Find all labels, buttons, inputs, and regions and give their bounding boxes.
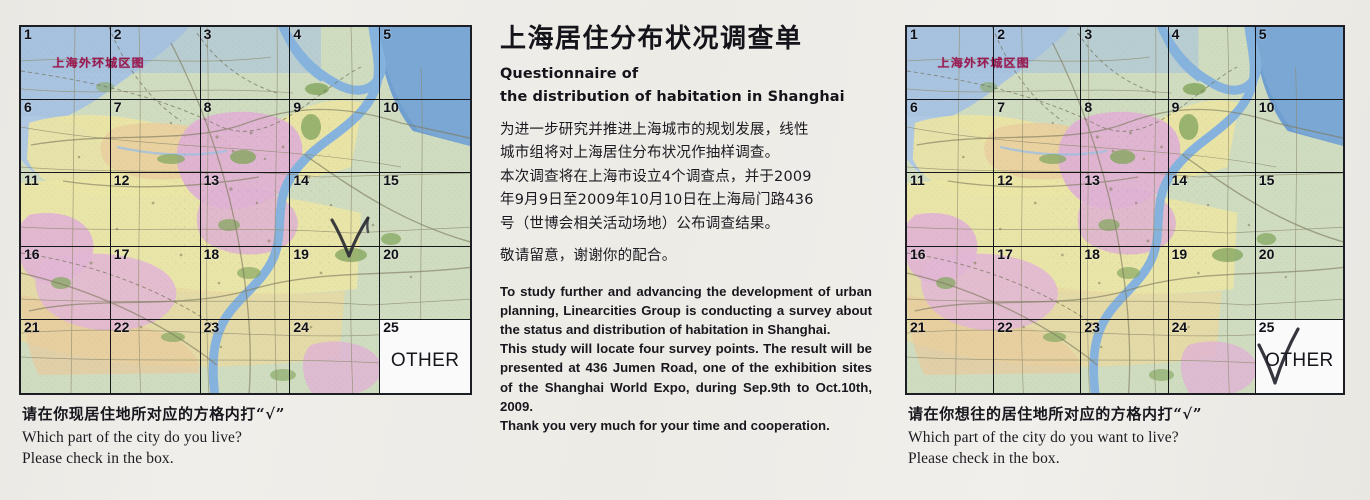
grid-cell-number: 5 <box>1259 27 1267 42</box>
left-caption-en-1: Which part of the city do you live? <box>22 429 285 447</box>
grid-cell-number: 4 <box>1172 27 1180 42</box>
map-grid: 1234567891011121314151617181920212223242… <box>21 27 470 393</box>
grid-cell-number: 9 <box>1172 100 1180 115</box>
grid-cell-number: 18 <box>204 247 220 262</box>
grid-cell-13[interactable]: 13 <box>201 173 291 246</box>
grid-cell-number: 1 <box>910 27 918 42</box>
grid-cell-number: 25 <box>383 320 399 335</box>
grid-cell-number: 24 <box>1172 320 1188 335</box>
questionnaire-sheet: 上海外环城区图 12345678910111213141516171819202… <box>0 0 1370 500</box>
current-residence-map[interactable]: 上海外环城区图 12345678910111213141516171819202… <box>19 25 472 395</box>
grid-cell-18[interactable]: 18 <box>1081 247 1168 320</box>
grid-cell-number: 22 <box>997 320 1013 335</box>
grid-cell-number: 5 <box>383 27 391 42</box>
questionnaire-text-column: 上海居住分布状况调查单 Questionnaire of the distrib… <box>500 18 872 435</box>
grid-cell-number: 14 <box>1172 173 1188 188</box>
right-map-panel: 上海外环城区图 12345678910111213141516171819202… <box>905 25 1345 395</box>
grid-cell-17[interactable]: 17 <box>994 247 1081 320</box>
grid-cell-7[interactable]: 7 <box>111 100 201 173</box>
grid-cell-number: 3 <box>1084 27 1092 42</box>
grid-cell-10[interactable]: 10 <box>1256 100 1343 173</box>
grid-cell-number: 1 <box>24 27 32 42</box>
grid-cell-number: 12 <box>114 173 130 188</box>
grid-cell-7[interactable]: 7 <box>994 100 1081 173</box>
grid-cell-number: 13 <box>1084 173 1100 188</box>
body-cn-p2-l1: 本次调查将在上海市设立4个调查点，并于2009 <box>500 166 872 189</box>
grid-cell-16[interactable]: 16 <box>21 247 111 320</box>
grid-cell-9[interactable]: 9 <box>290 100 380 173</box>
grid-cell-15[interactable]: 15 <box>1256 173 1343 246</box>
grid-cell-number: 17 <box>997 247 1013 262</box>
grid-cell-number: 25 <box>1259 320 1275 335</box>
grid-cell-number: 24 <box>293 320 309 335</box>
grid-cell-number: 8 <box>204 100 212 115</box>
grid-cell-1[interactable]: 1 <box>907 27 994 100</box>
grid-cell-number: 2 <box>114 27 122 42</box>
grid-cell-number: 21 <box>24 320 40 335</box>
body-en-p3: Thank you very much for your time and co… <box>500 416 872 435</box>
grid-cell-24[interactable]: 24 <box>1169 320 1256 393</box>
grid-cell-6[interactable]: 6 <box>21 100 111 173</box>
title-chinese: 上海居住分布状况调查单 <box>500 18 872 55</box>
grid-cell-21[interactable]: 21 <box>21 320 111 393</box>
grid-cell-3[interactable]: 3 <box>201 27 291 100</box>
grid-cell-number: 23 <box>1084 320 1100 335</box>
grid-cell-number: 21 <box>910 320 926 335</box>
grid-cell-8[interactable]: 8 <box>1081 100 1168 173</box>
grid-cell-11[interactable]: 11 <box>21 173 111 246</box>
title-english-line-1: Questionnaire of <box>500 66 872 82</box>
grid-cell-4[interactable]: 4 <box>290 27 380 100</box>
grid-cell-19[interactable]: 19 <box>290 247 380 320</box>
grid-cell-22[interactable]: 22 <box>111 320 201 393</box>
grid-cell-13[interactable]: 13 <box>1081 173 1168 246</box>
grid-cell-19[interactable]: 19 <box>1169 247 1256 320</box>
body-cn-p3-l1: 敬请留意，谢谢你的配合。 <box>500 245 872 268</box>
grid-cell-11[interactable]: 11 <box>907 173 994 246</box>
grid-cell-25[interactable]: 25OTHER <box>1256 320 1343 393</box>
grid-cell-number: 13 <box>204 173 220 188</box>
grid-cell-number: 2 <box>997 27 1005 42</box>
grid-cell-number: 15 <box>383 173 399 188</box>
grid-cell-number: 9 <box>293 100 301 115</box>
body-cn-spacer <box>500 236 872 245</box>
grid-cell-number: 6 <box>24 100 32 115</box>
grid-cell-1[interactable]: 1 <box>21 27 111 100</box>
grid-cell-number: 7 <box>114 100 122 115</box>
grid-cell-number: 20 <box>383 247 399 262</box>
grid-cell-number: 10 <box>383 100 399 115</box>
grid-cell-10[interactable]: 10 <box>380 100 470 173</box>
left-map-panel: 上海外环城区图 12345678910111213141516171819202… <box>19 25 472 395</box>
grid-cell-16[interactable]: 16 <box>907 247 994 320</box>
grid-cell-23[interactable]: 23 <box>201 320 291 393</box>
grid-cell-number: 17 <box>114 247 130 262</box>
grid-cell-22[interactable]: 22 <box>994 320 1081 393</box>
grid-cell-20[interactable]: 20 <box>380 247 470 320</box>
grid-cell-2[interactable]: 2 <box>994 27 1081 100</box>
left-caption: 请在你现居住地所对应的方格内打“√” Which part of the cit… <box>22 403 285 471</box>
grid-cell-number: 22 <box>114 320 130 335</box>
grid-cell-number: 14 <box>293 173 309 188</box>
title-english-line-2: the distribution of habitation in Shangh… <box>500 89 872 105</box>
grid-cell-number: 20 <box>1259 247 1275 262</box>
grid-cell-5[interactable]: 5 <box>380 27 470 100</box>
body-cn-p2-l2: 年9月9日至2009年10月10日在上海局门路436 <box>500 189 872 212</box>
grid-cell-number: 16 <box>24 247 40 262</box>
grid-cell-17[interactable]: 17 <box>111 247 201 320</box>
grid-cell-20[interactable]: 20 <box>1256 247 1343 320</box>
left-caption-en-2: Please check in the box. <box>22 450 285 468</box>
right-caption: 请在你想往的居住地所对应的方格内打“√” Which part of the c… <box>908 403 1202 471</box>
grid-cell-number: 15 <box>1259 173 1275 188</box>
grid-cell-number: 8 <box>1084 100 1092 115</box>
body-cn-p1-l1: 为进一步研究并推进上海城市的规划发展，线性 <box>500 119 872 142</box>
map-grid-right: 1234567891011121314151617181920212223242… <box>907 27 1343 393</box>
grid-cell-23[interactable]: 23 <box>1081 320 1168 393</box>
grid-cell-15[interactable]: 15 <box>380 173 470 246</box>
other-option-label: OTHER <box>391 350 460 372</box>
grid-cell-number: 23 <box>204 320 220 335</box>
grid-cell-2[interactable]: 2 <box>111 27 201 100</box>
grid-cell-number: 18 <box>1084 247 1100 262</box>
body-cn-p1-l2: 城市组将对上海居住分布状况作抽样调查。 <box>500 142 872 165</box>
grid-cell-number: 19 <box>293 247 309 262</box>
grid-cell-14[interactable]: 14 <box>1169 173 1256 246</box>
body-chinese: 为进一步研究并推进上海城市的规划发展，线性 城市组将对上海居住分布状况作抽样调查… <box>500 119 872 269</box>
grid-cell-24[interactable]: 24 <box>290 320 380 393</box>
grid-cell-number: 4 <box>293 27 301 42</box>
grid-cell-5[interactable]: 5 <box>1256 27 1343 100</box>
desired-residence-map[interactable]: 上海外环城区图 12345678910111213141516171819202… <box>905 25 1345 395</box>
right-caption-cn: 请在你想往的居住地所对应的方格内打“√” <box>908 403 1202 424</box>
body-en-p1: To study further and advancing the devel… <box>500 282 872 339</box>
grid-cell-number: 11 <box>24 173 39 188</box>
grid-cell-number: 16 <box>910 247 926 262</box>
grid-cell-number: 19 <box>1172 247 1188 262</box>
body-english: To study further and advancing the devel… <box>500 282 872 435</box>
grid-cell-number: 12 <box>997 173 1013 188</box>
grid-cell-number: 7 <box>997 100 1005 115</box>
grid-cell-4[interactable]: 4 <box>1169 27 1256 100</box>
grid-cell-18[interactable]: 18 <box>201 247 291 320</box>
other-option-label: OTHER <box>1265 350 1334 372</box>
grid-cell-number: 10 <box>1259 100 1275 115</box>
right-caption-en-1: Which part of the city do you want to li… <box>908 429 1202 447</box>
grid-cell-25[interactable]: 25OTHER <box>380 320 470 393</box>
grid-cell-9[interactable]: 9 <box>1169 100 1256 173</box>
body-cn-p2-l3: 号（世博会相关活动场地）公布调查结果。 <box>500 213 872 236</box>
grid-cell-number: 11 <box>910 173 925 188</box>
right-caption-en-2: Please check in the box. <box>908 450 1202 468</box>
grid-cell-14[interactable]: 14 <box>290 173 380 246</box>
grid-cell-3[interactable]: 3 <box>1081 27 1168 100</box>
grid-cell-number: 6 <box>910 100 918 115</box>
left-caption-cn: 请在你现居住地所对应的方格内打“√” <box>22 403 285 424</box>
grid-cell-number: 3 <box>204 27 212 42</box>
grid-cell-6[interactable]: 6 <box>907 100 994 173</box>
grid-cell-12[interactable]: 12 <box>994 173 1081 246</box>
grid-cell-21[interactable]: 21 <box>907 320 994 393</box>
body-en-p2: This study will locate four survey point… <box>500 339 872 416</box>
grid-cell-12[interactable]: 12 <box>111 173 201 246</box>
grid-cell-8[interactable]: 8 <box>201 100 291 173</box>
